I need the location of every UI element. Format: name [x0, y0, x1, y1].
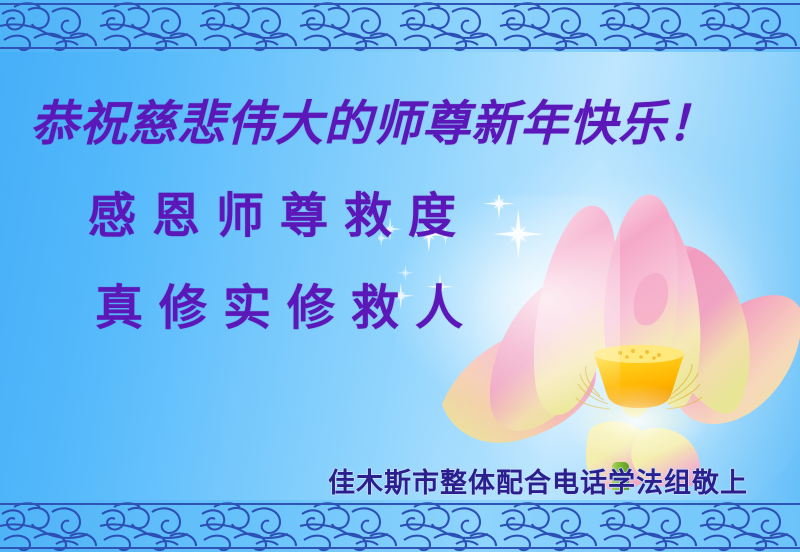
border-rule-bottom — [0, 47, 800, 49]
greeting-card: 恭祝慈悲伟大的师尊新年快乐！ 感恩师尊救度 真修实修救人 佳木斯市整体配合电话学… — [0, 0, 800, 552]
greeting-line-1: 恭祝慈悲伟大的师尊新年快乐！ — [30, 84, 716, 154]
signature-line: 佳木斯市整体配合电话学法组敬上 — [328, 461, 748, 500]
lotus-seed-pod-top — [594, 345, 684, 363]
border-rule-top — [0, 3, 800, 5]
bottom-decorative-border — [0, 500, 800, 552]
lotus-center-glow — [564, 384, 708, 460]
cloud-scroll-pattern-top — [0, 0, 800, 52]
cloud-scroll-pattern-bottom — [0, 500, 800, 552]
greeting-line-3: 真修实修救人 — [95, 268, 479, 338]
border-rule-top — [0, 503, 800, 505]
greeting-line-2: 感恩师尊救度 — [88, 176, 472, 246]
lotus-flower — [428, 190, 800, 490]
top-decorative-border — [0, 0, 800, 52]
border-rule-bottom — [0, 547, 800, 549]
